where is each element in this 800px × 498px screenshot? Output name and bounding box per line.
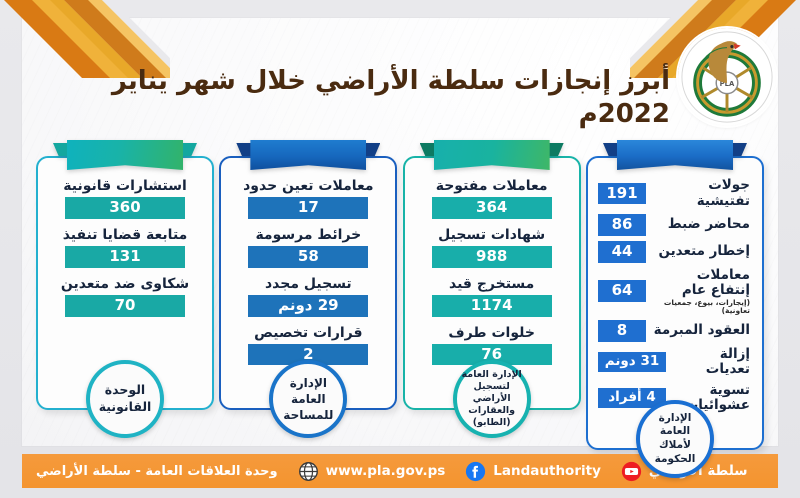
stat-row: شكاوى ضد متعدين 70 <box>48 276 202 317</box>
stat-row: استشارات قانونية 360 <box>48 178 202 219</box>
column-land-registration: معاملات مفتوحة 364 شهادات تسجيل 988 مستخ… <box>403 140 581 410</box>
columns-container: استشارات قانونية 360 متابعة قضايا تنفيذ … <box>36 140 764 430</box>
stat-row: 8 العقود المبرمة <box>598 320 752 342</box>
stat-value: 29 دونم <box>248 295 368 317</box>
column-legal-unit: استشارات قانونية 360 متابعة قضايا تنفيذ … <box>36 140 214 410</box>
facebook-icon <box>465 461 486 482</box>
stat-label: تسجيل مجدد <box>231 276 385 292</box>
stat-label-text: معاملات إنتفاع عام <box>682 267 750 299</box>
stat-label: معاملات إنتفاع عام (إيجارات، بيوع، جمعيا… <box>653 268 752 316</box>
stat-value: 191 <box>598 183 646 205</box>
stat-label: معاملات تعين حدود <box>231 178 385 194</box>
card-government-property: 191 جولات تفتيشية 86 محاضر ضبط 44 إخطار … <box>586 156 764 450</box>
globe-icon <box>298 461 319 482</box>
footer-website-text: www.pla.gov.ps <box>326 463 446 479</box>
badge-government-property: الإدارة العامة لأملاك الحكومة <box>636 400 714 478</box>
stat-value: 70 <box>65 295 185 317</box>
infographic-poster: PLA أبرز إنجازات سلطة الأراضي خلال شهر ي… <box>0 0 800 498</box>
stat-value: 86 <box>598 214 646 236</box>
stat-label: محاضر ضبط <box>653 217 752 233</box>
stat-value: 58 <box>248 246 368 268</box>
rows-survey: معاملات تعين حدود 17 خرائط مرسومة 58 تسج… <box>231 178 385 365</box>
rows-legal-unit: استشارات قانونية 360 متابعة قضايا تنفيذ … <box>48 178 202 317</box>
stat-sublabel: (إيجارات، بيوع، جمعيات تعاونية) <box>653 299 750 316</box>
page-title: أبرز إنجازات سلطة الأراضي خلال شهر يناير… <box>40 65 670 130</box>
stat-value: 131 <box>65 246 185 268</box>
stat-value: 1174 <box>432 295 552 317</box>
stat-label: جولات تفتيشية <box>653 178 752 209</box>
rows-land-registration: معاملات مفتوحة 364 شهادات تسجيل 988 مستخ… <box>415 178 569 365</box>
stat-value: 360 <box>65 197 185 219</box>
stat-value: 64 <box>598 280 646 302</box>
stat-label: خلوات طرف <box>415 325 569 341</box>
badge-survey: الإدارة العامة للمساحة <box>269 360 347 438</box>
stat-row: 64 معاملات إنتفاع عام (إيجارات، بيوع، جم… <box>598 268 752 316</box>
ribbon-government-property <box>617 140 733 170</box>
stat-label: استشارات قانونية <box>48 178 202 194</box>
rows-government-property: 191 جولات تفتيشية 86 محاضر ضبط 44 إخطار … <box>598 178 752 414</box>
stat-label: شكاوى ضد متعدين <box>48 276 202 292</box>
stat-row: معاملات مفتوحة 364 <box>415 178 569 219</box>
stat-label: شهادات تسجيل <box>415 227 569 243</box>
stat-label: العقود المبرمة <box>653 323 752 339</box>
stat-row: خرائط مرسومة 58 <box>231 227 385 268</box>
stat-label: خرائط مرسومة <box>231 227 385 243</box>
footer-facebook[interactable]: Landauthority <box>465 461 601 482</box>
stat-label: إزالة تعديات <box>673 347 752 378</box>
stat-row: 86 محاضر ضبط <box>598 214 752 236</box>
ribbon-legal-unit <box>67 140 183 170</box>
stat-row: 44 إخطار متعدين <box>598 241 752 263</box>
stat-label: متابعة قضايا تنفيذ <box>48 227 202 243</box>
card-land-registration: معاملات مفتوحة 364 شهادات تسجيل 988 مستخ… <box>403 156 581 410</box>
stat-row: 31 دونم إزالة تعديات <box>598 347 752 378</box>
stat-row: معاملات تعين حدود 17 <box>231 178 385 219</box>
stat-value: 8 <box>598 320 646 342</box>
footer-website[interactable]: www.pla.gov.ps <box>298 461 446 482</box>
stat-value: 364 <box>432 197 552 219</box>
stat-row: مستخرج قيد 1174 <box>415 276 569 317</box>
column-government-property: 191 جولات تفتيشية 86 محاضر ضبط 44 إخطار … <box>586 140 764 450</box>
stat-row: شهادات تسجيل 988 <box>415 227 569 268</box>
badge-land-registration: الإدارة العامة لتسجيل الأراضي والعقارات … <box>453 360 531 438</box>
stat-value: 44 <box>598 241 646 263</box>
stat-row: تسجيل مجدد 29 دونم <box>231 276 385 317</box>
stat-row: 191 جولات تفتيشية <box>598 178 752 209</box>
badge-legal-unit: الوحدة القانونية <box>86 360 164 438</box>
stat-label: معاملات مفتوحة <box>415 178 569 194</box>
stat-value: 31 دونم <box>598 352 666 372</box>
youtube-icon <box>621 461 642 482</box>
stat-label: مستخرج قيد <box>415 276 569 292</box>
stat-value: 17 <box>248 197 368 219</box>
stat-row: متابعة قضايا تنفيذ 131 <box>48 227 202 268</box>
column-survey: معاملات تعين حدود 17 خرائط مرسومة 58 تسج… <box>219 140 397 410</box>
ribbon-survey <box>250 140 366 170</box>
card-survey: معاملات تعين حدود 17 خرائط مرسومة 58 تسج… <box>219 156 397 410</box>
card-legal-unit: استشارات قانونية 360 متابعة قضايا تنفيذ … <box>36 156 214 410</box>
stat-label: قرارات تخصيص <box>231 325 385 341</box>
pla-logo: PLA <box>678 28 776 126</box>
stat-label: إخطار متعدين <box>653 244 752 260</box>
footer-facebook-text: Landauthority <box>493 463 601 479</box>
footer-unit-label: وحدة العلاقات العامة - سلطة الأراضي <box>36 464 278 479</box>
stat-value: 988 <box>432 246 552 268</box>
ribbon-land-registration <box>434 140 550 170</box>
